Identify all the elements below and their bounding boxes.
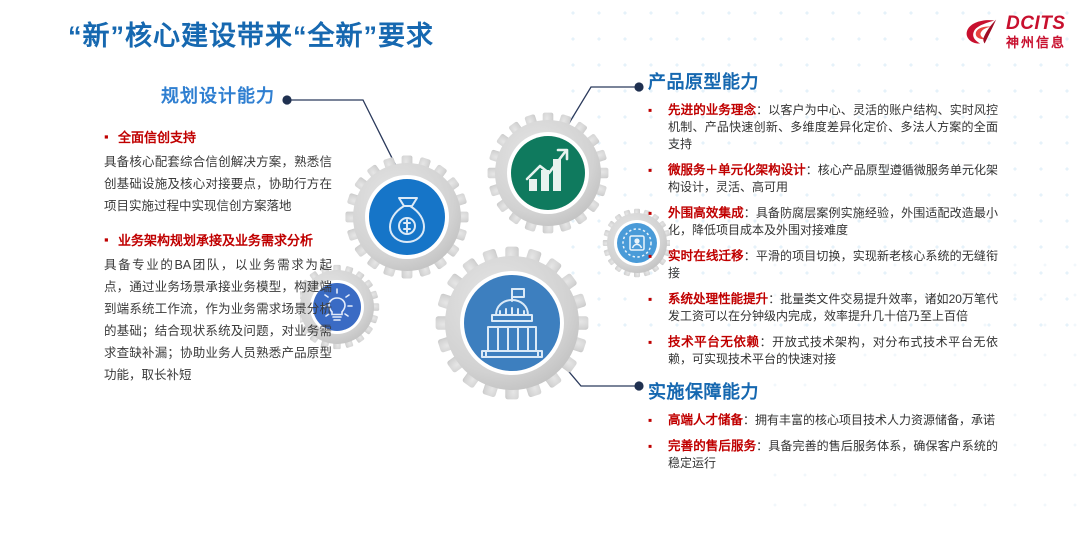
left-bullet-lead-0: ▪ 全面信创支持 [104, 128, 332, 147]
lead-separator: ： [760, 335, 773, 349]
dcits-swirl-icon [964, 17, 1000, 47]
right-bullet-2: ▪ 外围高效集成：具备防腐层案例实施经验，外围适配改造最小化，降低项目成本及外围… [648, 205, 998, 239]
bullet-dot-icon: ▪ [648, 291, 668, 325]
bullet-dot-icon: ▪ [648, 412, 668, 429]
lead-separator: ： [744, 206, 756, 220]
right-bullet-4: ▪ 系统处理性能提升：批量类文件交易提升效率，诸如20万笔代发工资可以在分钟级内… [648, 291, 998, 325]
right-bullet-1: ▪ 微服务＋单元化架构设计：核心产品原型遵循微服务单元化架构设计，灵活、高可用 [648, 162, 998, 196]
gear-cluster-graphic [300, 95, 670, 425]
right-lead-3: 实时在线迁移 [668, 249, 744, 263]
delivery-lead-1: 完善的售后服务 [668, 439, 756, 453]
section-heading-prototype: 产品原型能力 [648, 68, 998, 94]
bullet-dot-icon: ▪ [648, 438, 668, 472]
right-bullet-text-4: 系统处理性能提升：批量类文件交易提升效率，诸如20万笔代发工资可以在分钟级内完成… [668, 291, 998, 325]
connector-dot-prototype [634, 82, 643, 91]
right-capability-column-prototype: 产品原型能力 ▪ 先进的业务理念：以客户为中心、灵活的账户结构、实时风控机制、产… [648, 68, 998, 377]
right-bullet-0: ▪ 先进的业务理念：以客户为中心、灵活的账户结构、实时风控机制、产品快速创新、多… [648, 102, 998, 153]
right-bullet-text-5: 技术平台无依赖：开放式技术架构，对分布式技术平台无依赖，可实现技术平台的快速对接 [668, 334, 998, 368]
section-heading-delivery: 实施保障能力 [648, 378, 998, 404]
left-lead-text-0: 全面信创支持 [118, 128, 196, 147]
bullet-dot-icon: ▪ [648, 334, 668, 368]
right-capability-column-delivery: 实施保障能力 ▪ 高端人才储备：拥有丰富的核心项目技术人力资源储备，承诺 ▪ 完… [648, 378, 998, 481]
left-lead-text-1: 业务架构规划承接及业务需求分析 [118, 231, 313, 250]
right-bullet-text-3: 实时在线迁移：平滑的项目切换，实现新老核心系统的无缝衔接 [668, 248, 998, 282]
left-bullet-lead-1: ▪ 业务架构规划承接及业务需求分析 [104, 231, 332, 250]
delivery-bullet-text-0: 高端人才储备：拥有丰富的核心项目技术人力资源储备，承诺 [668, 412, 995, 429]
right-lead-1: 微服务＋单元化架构设计 [668, 163, 806, 177]
lead-separator: ： [743, 413, 755, 427]
right-bullet-5: ▪ 技术平台无依赖：开放式技术架构，对分布式技术平台无依赖，可实现技术平台的快速… [648, 334, 998, 368]
delivery-body-0: 拥有丰富的核心项目技术人力资源储备，承诺 [755, 413, 995, 427]
lead-separator: ： [756, 439, 768, 453]
gear-money-bag [345, 155, 468, 278]
section-heading-planning: 规划设计能力 [104, 82, 332, 108]
right-bullet-3: ▪ 实时在线迁移：平滑的项目切换，实现新老核心系统的无缝衔接 [648, 248, 998, 282]
page-title: “新”核心建设带来“全新”要求 [68, 14, 434, 53]
gear-bank-building [436, 247, 589, 400]
right-bullet-text-1: 微服务＋单元化架构设计：核心产品原型遵循微服务单元化架构设计，灵活、高可用 [668, 162, 998, 196]
lead-separator: ： [768, 292, 780, 306]
bullet-dot-icon: ▪ [648, 248, 668, 282]
bullet-dot-icon: ▪ [104, 128, 118, 147]
left-body-text-1: 具备专业的BA团队，以业务需求为起点，通过业务场景承接业务模型，构建端到端系统工… [104, 254, 332, 386]
bullet-dot-icon: ▪ [104, 231, 118, 250]
right-lead-0: 先进的业务理念 [668, 103, 756, 117]
delivery-bullet-text-1: 完善的售后服务：具备完善的售后服务体系，确保客户系统的稳定运行 [668, 438, 998, 472]
brand-logo: DCITS 神州信息 [964, 14, 1066, 49]
bullet-dot-icon: ▪ [648, 205, 668, 239]
right-lead-2: 外围高效集成 [668, 206, 744, 220]
lead-separator: ： [756, 103, 768, 117]
logo-text-cn: 神州信息 [1006, 36, 1066, 49]
bullet-dot-icon: ▪ [648, 162, 668, 196]
gear-growth-chart [488, 113, 609, 234]
right-lead-5: 技术平台无依赖 [668, 335, 760, 349]
delivery-lead-0: 高端人才储备 [668, 413, 743, 427]
left-capability-column: 规划设计能力 ▪ 全面信创支持 具备核心配套综合信创解决方案，熟悉信创基础设施及… [104, 82, 332, 400]
slide-root: “新”核心建设带来“全新”要求 DCITS 神州信息 [0, 0, 1080, 540]
bullet-dot-icon: ▪ [648, 102, 668, 153]
logo-text-en: DCITS [1006, 14, 1066, 33]
delivery-bullet-0: ▪ 高端人才储备：拥有丰富的核心项目技术人力资源储备，承诺 [648, 412, 998, 429]
right-bullet-text-0: 先进的业务理念：以客户为中心、灵活的账户结构、实时风控机制、产品快速创新、多维度… [668, 102, 998, 153]
delivery-bullet-1: ▪ 完善的售后服务：具备完善的售后服务体系，确保客户系统的稳定运行 [648, 438, 998, 472]
left-body-text-0: 具备核心配套综合信创解决方案，熟悉信创基础设施及核心对接要点，协助行方在项目实施… [104, 151, 332, 217]
lead-separator: ： [806, 163, 818, 177]
right-bullet-text-2: 外围高效集成：具备防腐层案例实施经验，外围适配改造最小化，降低项目成本及外围对接… [668, 205, 998, 239]
lead-separator: ： [744, 249, 756, 263]
right-lead-4: 系统处理性能提升 [668, 292, 768, 306]
